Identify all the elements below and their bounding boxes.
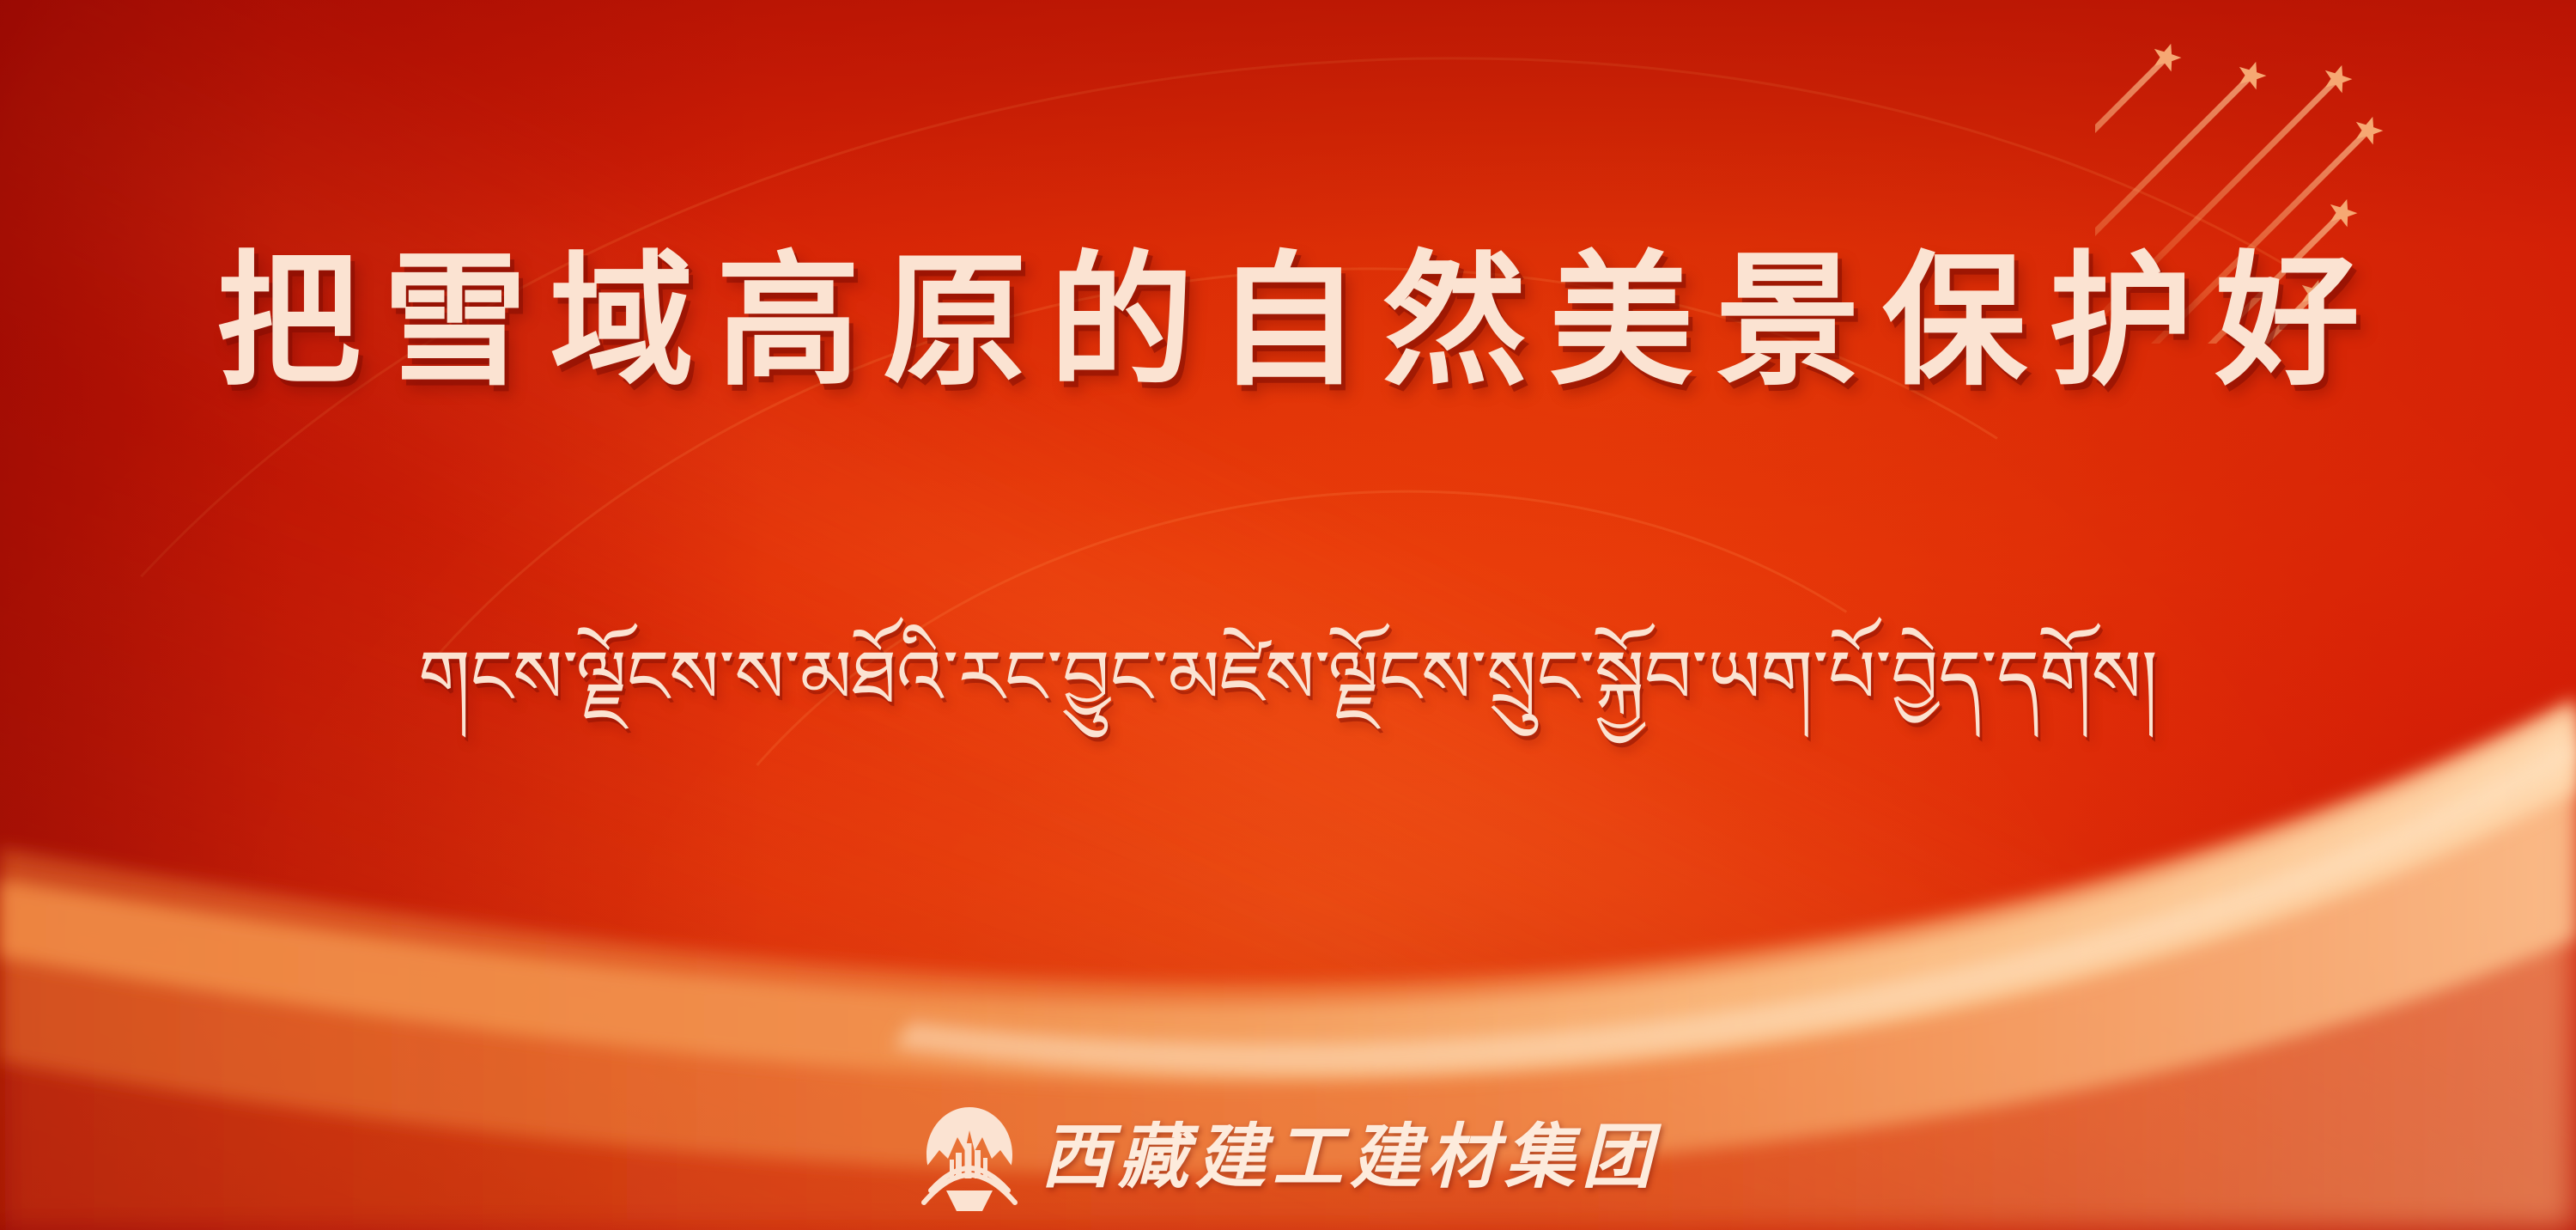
emblem-base: [946, 1190, 993, 1211]
banner-canvas: 把雪域高原的自然美景保护好 གངས་ལྗོངས་ས་མཐོའི་རང་བྱུང་…: [0, 0, 2576, 1230]
mountain-bridge-emblem-icon: [917, 1101, 1022, 1215]
subtitle-tibetan: གངས་ལྗོངས་ས་མཐོའི་རང་བྱུང་མཛེས་ལྗོངས་སྲུ…: [0, 632, 2576, 725]
brand-lockup: 西藏建工建材集团: [917, 1101, 1659, 1215]
page-title: 把雪域高原的自然美景保护好: [0, 251, 2576, 395]
brand-name: 西藏建工建材集团: [1041, 1123, 1659, 1193]
background-left-shade: [0, 0, 2576, 1230]
